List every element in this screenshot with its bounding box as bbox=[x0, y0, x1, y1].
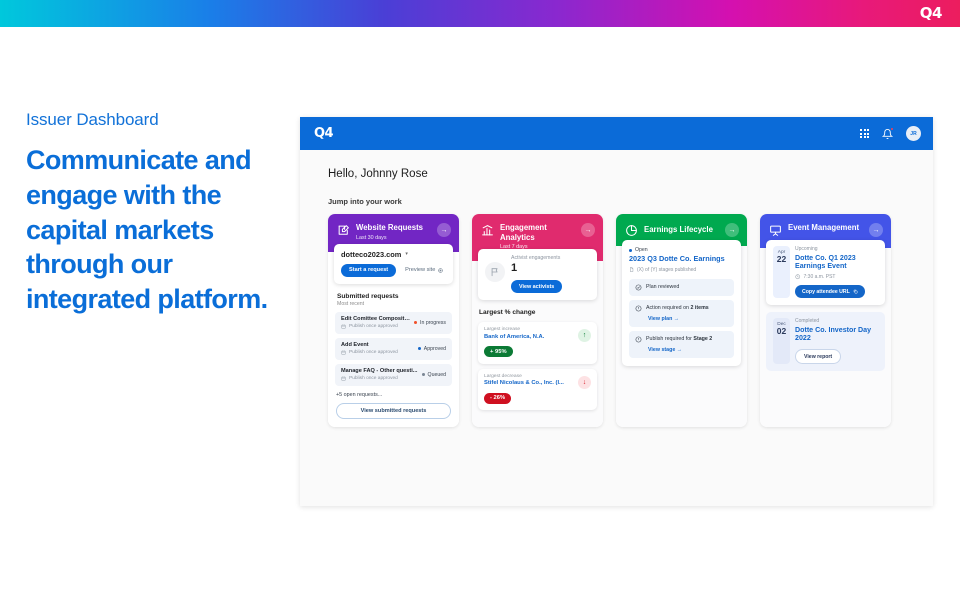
card-engagement-analytics: Engagement Analytics Last 7 days → Act bbox=[472, 214, 603, 427]
earnings-event-meta: (X) of (Y) stages published bbox=[629, 267, 734, 273]
event-status: Upcoming bbox=[795, 246, 878, 252]
card-body: dotteco2023.com ▾ Start a request Previe… bbox=[328, 252, 459, 427]
earnings-item-bold: Stage 2 bbox=[693, 336, 712, 342]
notification-badge bbox=[890, 127, 894, 131]
event-title[interactable]: Dotte Co. Q1 2023 Earnings Event bbox=[795, 254, 878, 271]
event-day: 02 bbox=[773, 327, 790, 336]
avatar[interactable]: JR bbox=[906, 126, 921, 141]
change-pill: + 95% bbox=[484, 346, 513, 357]
engagement-metric-panel: Activist engagements 1 View activists bbox=[478, 249, 597, 300]
event-time: 7:30 a.m. PST bbox=[804, 274, 836, 280]
pie-chart-icon bbox=[625, 224, 638, 237]
header-actions: JR bbox=[860, 126, 921, 141]
dashboard-header: Q4 JR bbox=[300, 117, 933, 150]
earnings-event-title[interactable]: 2023 Q3 Dotte Co. Earnings bbox=[629, 255, 734, 264]
copy-attendee-url-button[interactable]: Copy attendee URL bbox=[795, 285, 865, 298]
request-meta: Publish once approved bbox=[341, 324, 410, 329]
card-earnings-lifecycle: Earnings Lifecycle → Open 2023 Q3 Dotte … bbox=[616, 214, 747, 427]
upcoming-event-panel: Apr 22 Upcoming Dotte Co. Q1 2023 Earnin… bbox=[766, 240, 885, 305]
card-arrow-button[interactable]: → bbox=[437, 223, 451, 237]
status-badge: Queued bbox=[422, 372, 446, 378]
alert-circle-icon bbox=[635, 305, 642, 312]
card-arrow-button[interactable]: → bbox=[581, 223, 595, 237]
earnings-item-bold: 2 items bbox=[690, 305, 708, 311]
top-gradient-banner: Q4 bbox=[0, 0, 960, 27]
flag-icon bbox=[485, 262, 505, 282]
left-copy-column: Issuer Dashboard Communicate and engage … bbox=[26, 110, 286, 317]
calendar-icon bbox=[341, 350, 346, 355]
earnings-meta-text: (X) of (Y) stages published bbox=[637, 267, 696, 273]
view-report-button[interactable]: View report bbox=[795, 349, 841, 364]
arrow-down-icon: ↓ bbox=[578, 376, 591, 389]
status-label: In progress bbox=[420, 320, 446, 326]
calendar-icon bbox=[341, 324, 346, 329]
request-meta-text: Publish once approved bbox=[349, 350, 398, 355]
submitted-requests-subtitle: Most recent bbox=[337, 301, 459, 307]
event-date-chip: Apr 22 bbox=[773, 246, 790, 298]
submitted-requests-title: Submitted requests bbox=[337, 293, 459, 300]
analytics-bar-chart-icon bbox=[481, 224, 494, 237]
card-event-management: Event Management → Apr 22 Upcoming Dotte… bbox=[760, 214, 891, 427]
dashboard-screenshot: Q4 JR Hello, Johnny Rose Jump into your … bbox=[300, 117, 933, 506]
domain-actions: Start a request Preview site bbox=[341, 264, 446, 277]
change-label: Largest increase bbox=[484, 327, 574, 332]
card-title: Engagement Analytics bbox=[500, 223, 575, 242]
card-title: Website Requests bbox=[356, 223, 431, 233]
earnings-item-text: Plan reviewed bbox=[646, 284, 679, 290]
metric-label: Activist engagements bbox=[511, 255, 562, 261]
copy-attendee-url-label: Copy attendee URL bbox=[802, 289, 850, 295]
presentation-board-icon bbox=[769, 224, 782, 237]
request-title: Edit Comittee Compositi... bbox=[341, 316, 410, 322]
calendar-icon bbox=[341, 376, 346, 381]
card-row: Website Requests Last 30 days → dotteco2… bbox=[328, 214, 915, 427]
grid-apps-icon[interactable] bbox=[860, 129, 869, 138]
request-list: Edit Comittee Compositi... Publish once … bbox=[335, 312, 452, 386]
earnings-panel: Open 2023 Q3 Dotte Co. Earnings (X) of (… bbox=[622, 240, 741, 366]
view-stage-link[interactable]: View stage → bbox=[648, 347, 728, 353]
alert-circle-icon bbox=[635, 336, 642, 343]
status-badge: Approved bbox=[418, 346, 446, 352]
dashboard-body: Hello, Johnny Rose Jump into your work W… bbox=[300, 150, 933, 427]
request-title: Manage FAQ - Other questi... bbox=[341, 368, 418, 374]
status-dot bbox=[414, 321, 417, 324]
website-edit-icon bbox=[337, 224, 350, 237]
list-item[interactable]: Edit Comittee Compositi... Publish once … bbox=[335, 312, 452, 334]
status-dot bbox=[418, 347, 421, 350]
preview-site-link[interactable]: Preview site bbox=[405, 267, 443, 273]
check-circle-icon bbox=[635, 284, 642, 291]
request-meta: Publish once approved bbox=[341, 376, 418, 381]
event-status: Completed bbox=[795, 318, 878, 324]
card-body: Activist engagements 1 View activists La… bbox=[472, 261, 603, 426]
list-item[interactable]: Add Event Publish once approved Approved bbox=[335, 338, 452, 360]
earnings-item-prefix: Action required on bbox=[646, 305, 690, 311]
event-time-row: 7:30 a.m. PST bbox=[795, 274, 878, 280]
card-body: Apr 22 Upcoming Dotte Co. Q1 2023 Earnin… bbox=[760, 248, 891, 427]
domain-value: dotteco2023.com bbox=[341, 250, 401, 259]
status-badge: Open bbox=[629, 247, 734, 253]
section-label: Jump into your work bbox=[328, 197, 915, 206]
card-body: Open 2023 Q3 Dotte Co. Earnings (X) of (… bbox=[616, 246, 747, 427]
earnings-item-text: Action required on 2 items bbox=[646, 305, 709, 311]
arrow-up-icon: ↑ bbox=[578, 329, 591, 342]
change-pill: - 26% bbox=[484, 393, 511, 404]
dashboard-logo[interactable]: Q4 bbox=[314, 126, 333, 141]
list-item[interactable]: Largest decrease Stifel Nicolaus & Co., … bbox=[478, 369, 597, 411]
earnings-item-text: Publish required for Stage 2 bbox=[646, 336, 712, 342]
change-company: Bank of America, N.A. bbox=[484, 334, 574, 340]
page-headline: Communicate and engage with the capital … bbox=[26, 143, 286, 317]
status-dot bbox=[422, 373, 425, 376]
request-title: Add Event bbox=[341, 342, 414, 348]
chevron-down-icon: ▾ bbox=[405, 251, 408, 257]
status-label: Approved bbox=[424, 346, 446, 352]
card-arrow-button[interactable]: → bbox=[869, 223, 883, 237]
card-website-requests: Website Requests Last 30 days → dotteco2… bbox=[328, 214, 459, 427]
completed-event-panel: Dec 02 Completed Dotte Co. Investor Day … bbox=[766, 312, 885, 371]
start-request-button[interactable]: Start a request bbox=[341, 264, 396, 277]
list-item[interactable]: Largest increase Bank of America, N.A. +… bbox=[478, 322, 597, 364]
eyebrow-label: Issuer Dashboard bbox=[26, 110, 286, 130]
request-meta-text: Publish once approved bbox=[349, 324, 398, 329]
status-badge: In progress bbox=[414, 320, 446, 326]
view-submitted-requests-button[interactable]: View submitted requests bbox=[336, 403, 451, 419]
list-item[interactable]: Manage FAQ - Other questi... Publish onc… bbox=[335, 364, 452, 386]
change-company: Stifel Nicolaus & Co., Inc. (I... bbox=[484, 380, 574, 386]
more-requests-text: +5 open requests... bbox=[336, 392, 459, 398]
domain-selector[interactable]: dotteco2023.com ▾ bbox=[341, 250, 446, 259]
largest-change-title: Largest % change bbox=[479, 309, 603, 316]
greeting-text: Hello, Johnny Rose bbox=[328, 168, 915, 180]
q4-brand-logo: Q4 bbox=[920, 4, 942, 22]
event-date-chip: Dec 02 bbox=[773, 318, 790, 364]
card-subtitle: Last 30 days bbox=[356, 235, 431, 241]
list-item[interactable]: Publish required for Stage 2 View stage … bbox=[629, 331, 734, 358]
external-link-icon bbox=[438, 268, 443, 273]
metric-value: 1 bbox=[511, 262, 562, 274]
document-icon bbox=[629, 267, 634, 272]
event-title[interactable]: Dotte Co. Investor Day 2022 bbox=[795, 326, 878, 343]
clock-icon bbox=[795, 274, 801, 280]
notification-bell-icon[interactable] bbox=[882, 128, 893, 140]
list-item: Plan reviewed bbox=[629, 279, 734, 296]
earnings-item-list: Plan reviewed Action required on 2 items… bbox=[629, 279, 734, 358]
preview-site-label: Preview site bbox=[405, 267, 435, 273]
domain-panel: dotteco2023.com ▾ Start a request Previe… bbox=[334, 244, 453, 284]
card-title: Earnings Lifecycle bbox=[644, 225, 719, 235]
status-label: Open bbox=[635, 247, 648, 253]
status-dot bbox=[629, 249, 632, 252]
request-meta: Publish once approved bbox=[341, 350, 414, 355]
view-activists-button[interactable]: View activists bbox=[511, 280, 562, 293]
earnings-item-prefix: Publish required for bbox=[646, 336, 693, 342]
list-item[interactable]: Action required on 2 items View plan → bbox=[629, 300, 734, 327]
card-arrow-button[interactable]: → bbox=[725, 223, 739, 237]
change-label: Largest decrease bbox=[484, 374, 574, 379]
card-title: Event Management bbox=[788, 223, 863, 233]
view-plan-link[interactable]: View plan → bbox=[648, 316, 728, 322]
event-day: 22 bbox=[773, 255, 790, 264]
request-meta-text: Publish once approved bbox=[349, 376, 398, 381]
copy-icon bbox=[853, 289, 858, 294]
status-label: Queued bbox=[428, 372, 446, 378]
change-list: Largest increase Bank of America, N.A. +… bbox=[478, 322, 597, 410]
